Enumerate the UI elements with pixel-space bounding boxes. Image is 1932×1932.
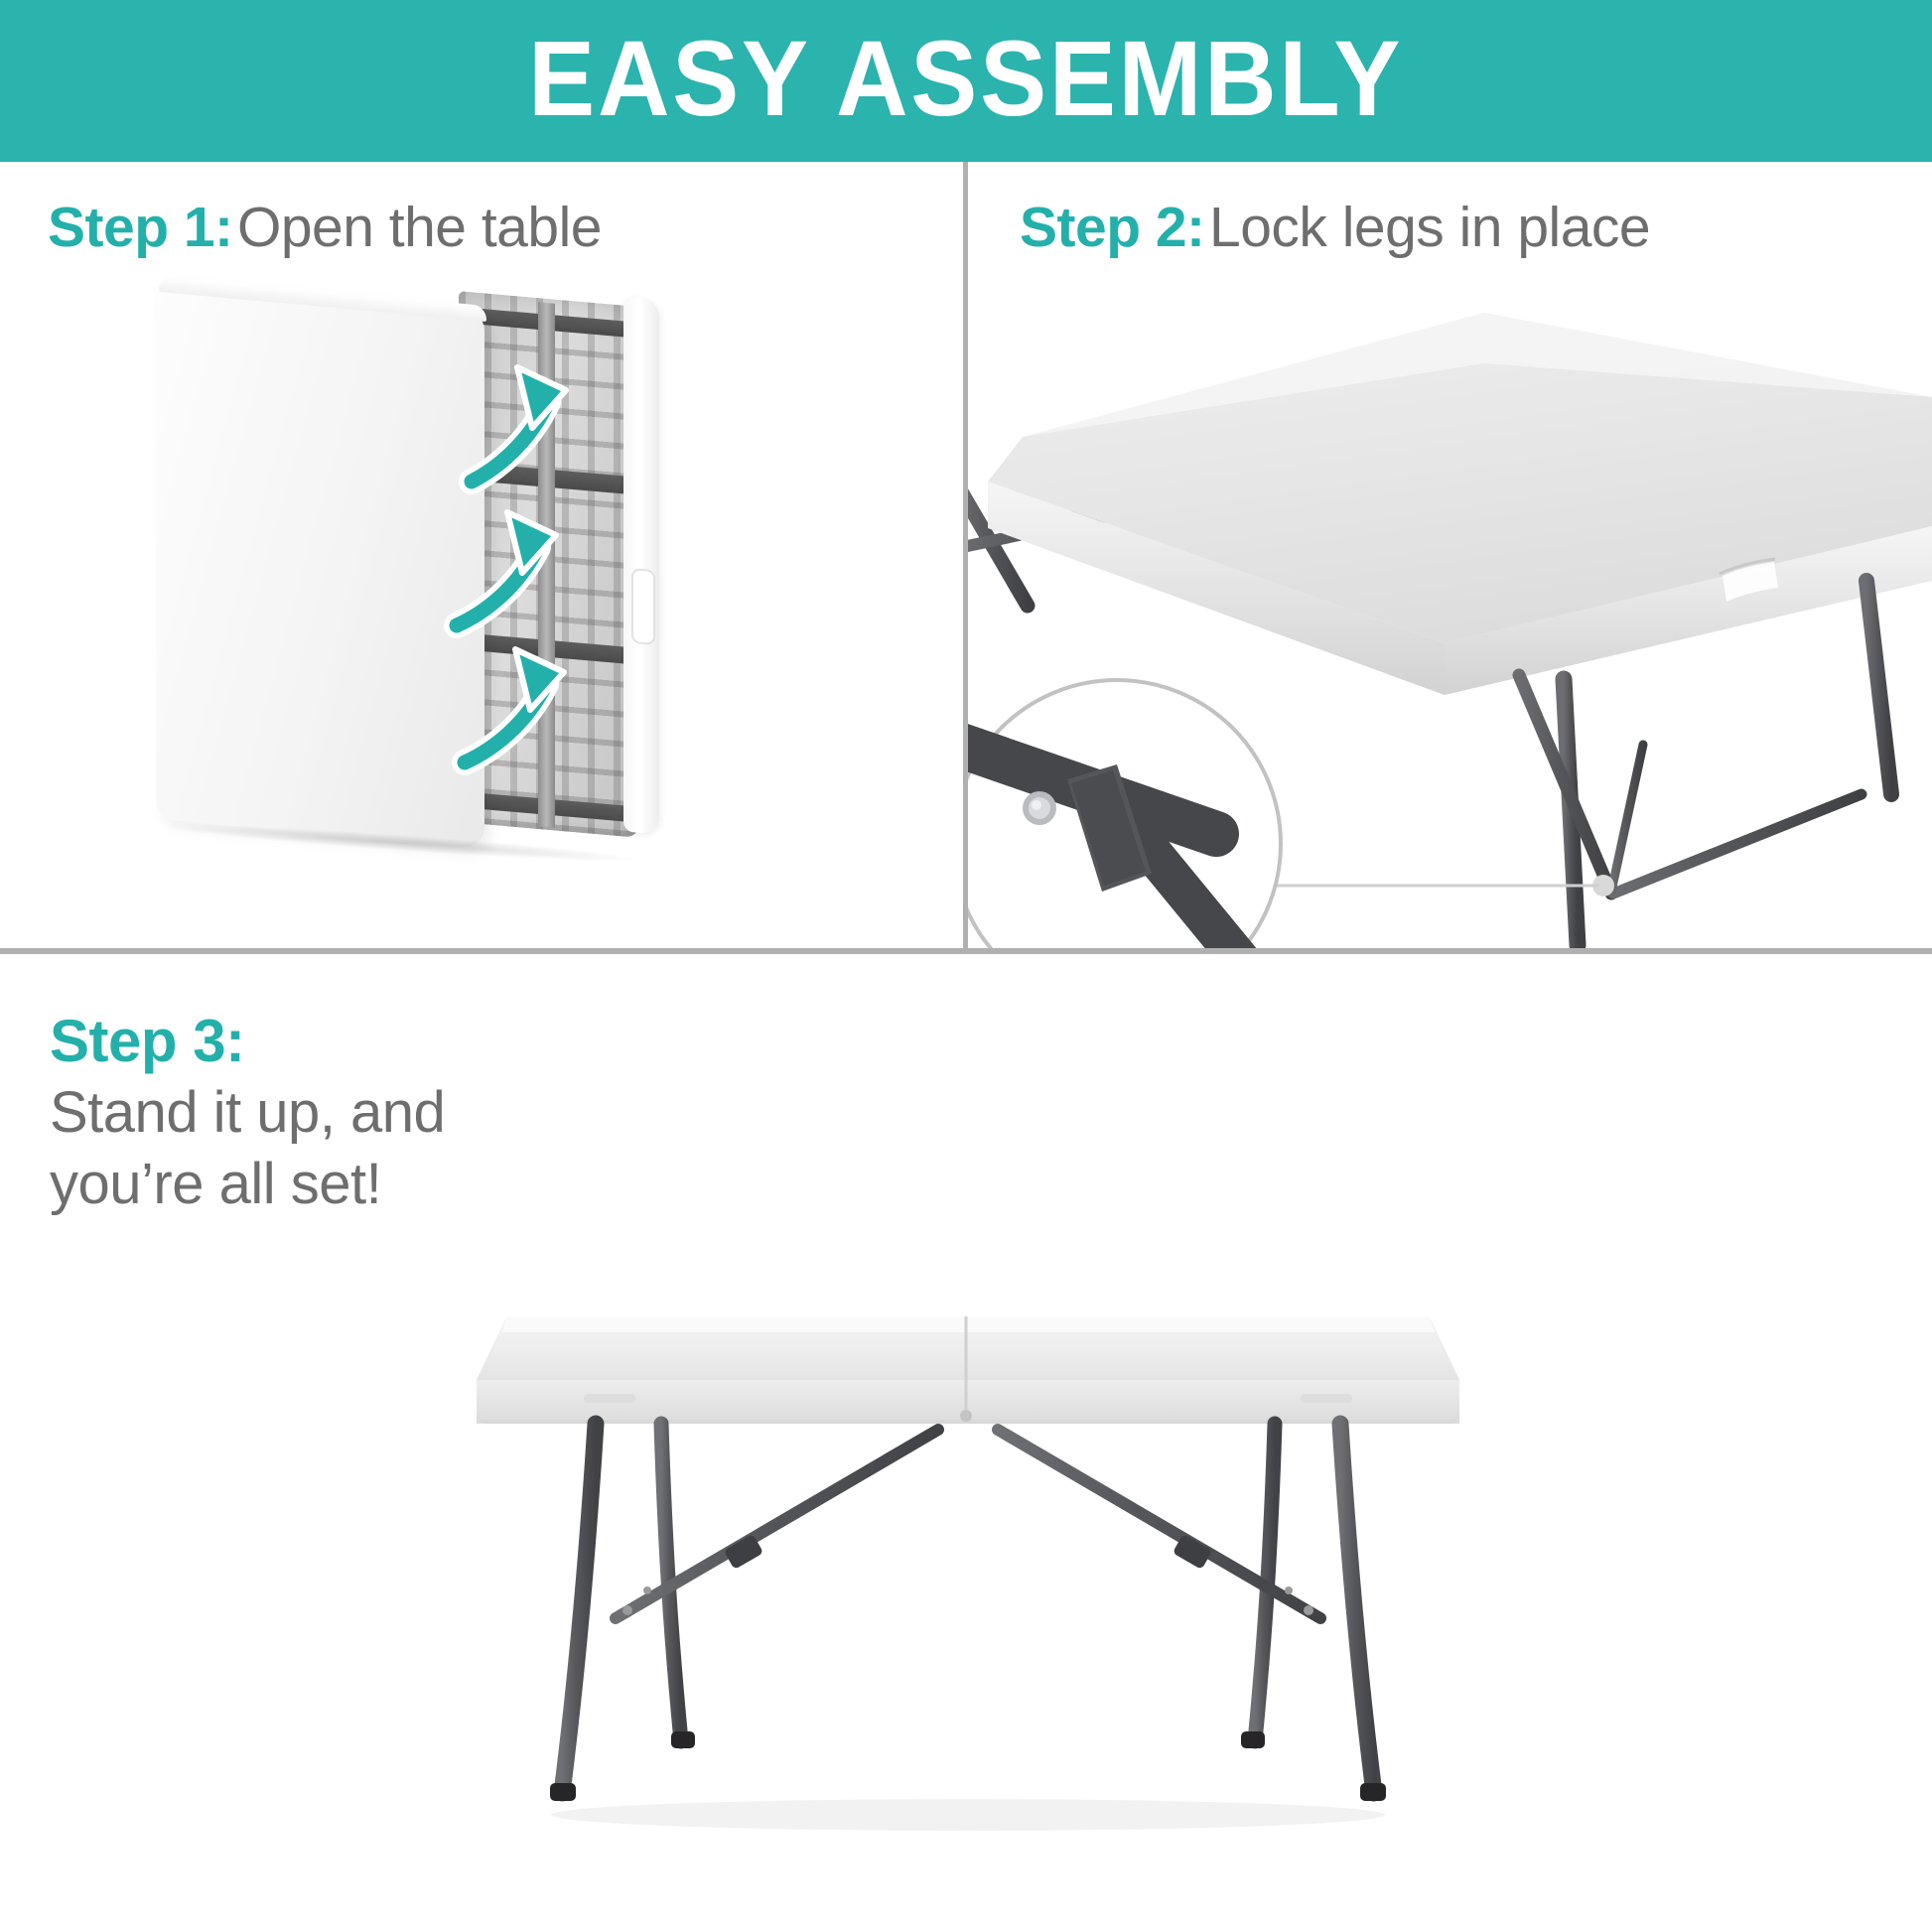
curved-arrow-icon [472,367,566,482]
step-1-description: Open the table [237,196,602,259]
table-top-surface [477,1316,1459,1424]
drop-shadow [551,1799,1385,1831]
curved-arrow-icon [465,649,564,762]
step-1-illustration [149,283,764,859]
step-3-heading: Step 3: Stand it up, and you’re all set! [50,1007,445,1221]
magnifier-callout-icon [968,680,1281,948]
page-title: EASY ASSEMBLY [528,25,1403,138]
step-1-label: Step 1: [48,196,233,259]
pivot-rivet-icon [643,1587,651,1594]
step-3-label: Step 3: [50,1007,445,1077]
table-leg-right [998,1424,1386,1801]
step-2-heading: Step 2: Lock legs in place [1020,195,1650,261]
step-3-description-line-1: Stand it up, and [50,1077,445,1150]
step-3-description-line-2: you’re all set! [50,1149,445,1221]
step-3-illustration [467,1221,1469,1837]
foot-cap-icon [1360,1783,1386,1801]
step-2-description: Lock legs in place [1209,196,1650,259]
pivot-rivet-icon [1285,1587,1293,1594]
fold-latch-icon [960,1410,972,1422]
foot-cap-icon [550,1783,576,1801]
header-banner: EASY ASSEMBLY [0,0,1932,162]
table-top-surface [988,313,1932,695]
curved-arrow-icon [457,512,556,625]
open-arrows-group [149,283,764,859]
step-2-label: Step 2: [1020,196,1205,259]
foot-cap-icon [1241,1731,1265,1748]
pivot-rivet-icon [622,1605,632,1615]
step-1-heading: Step 1: Open the table [48,195,602,261]
handle-slot-icon [584,1394,635,1403]
foot-cap-icon [671,1731,695,1748]
pivot-rivet-icon [1304,1605,1313,1615]
handle-slot-icon [1301,1394,1352,1403]
step-2-illustration [968,278,1932,948]
table-leg-left [550,1424,938,1801]
